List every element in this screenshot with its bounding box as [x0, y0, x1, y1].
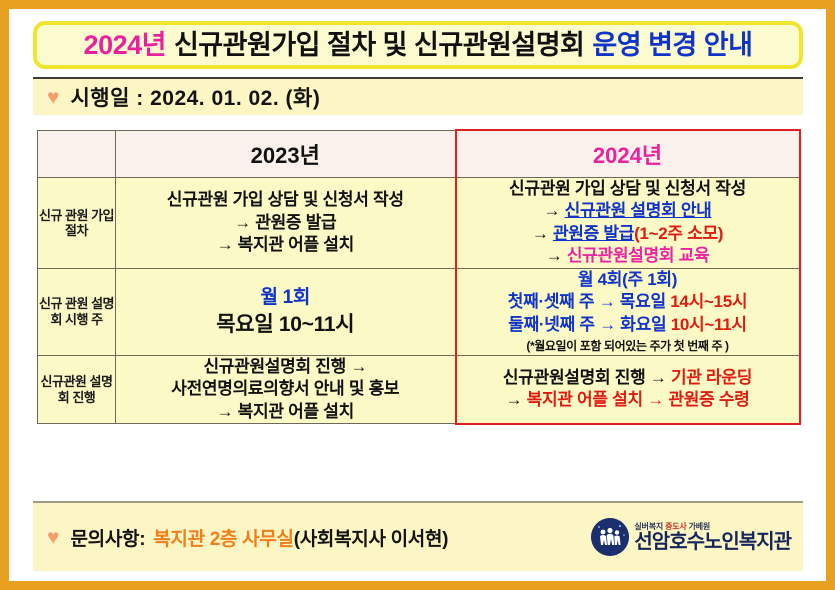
- notice-page: 2024년신규관원가입 절차 및 신규관원설명회운영 변경 안내 ♥ 시행일 :…: [0, 0, 835, 590]
- table-header-row: 2023년 2024년: [38, 130, 800, 178]
- table-head: 2023년 2024년: [38, 130, 800, 178]
- row-label-session-flow: 신규관원 설명회 진행: [38, 355, 116, 423]
- cell-2023-session-week: 월 1회 목요일 10~11시: [116, 268, 456, 355]
- session-week-note: (*월요일이 포함 되어있는 주가 첫 번째 주 ): [457, 339, 799, 355]
- cell-2024-signup-procedure: 신규관원 가입 상담 및 신청서 작성 → 신규관원 설명회 안내 → 관원증 …: [456, 178, 800, 269]
- effective-date-label: 시행일 : 2024. 01. 02. (화): [70, 82, 320, 112]
- logo-name: 선암호수노인복지관: [634, 532, 791, 552]
- organization-logo: 실버복지 중도사 가베원 선암호수노인복지관: [591, 518, 791, 556]
- title-year: 2024년: [84, 30, 166, 60]
- row-label-session-week: 신규 관원 설명회 시행 주: [38, 268, 116, 355]
- contact-info: ♥ 문의사항: 복지관 2층 사무실 (사회복지사 이서현): [47, 524, 448, 551]
- title-middle: 신규관원가입 절차 및 신규관원설명회: [174, 30, 584, 60]
- page-title: 2024년신규관원가입 절차 및 신규관원설명회운영 변경 안내: [84, 32, 753, 59]
- heart-icon: ♥: [47, 527, 59, 548]
- emblem-icon: [591, 518, 629, 556]
- row-label-signup-procedure: 신규 관원 가입 절차: [38, 178, 116, 269]
- contact-place: 복지관 2층 사무실: [153, 524, 294, 551]
- cell-2024-session-flow: 신규관원설명회 진행 → 기관 라운딩 → 복지관 어플 설치 → 관원증 수령: [456, 355, 800, 423]
- table-body: 신규 관원 가입 절차 신규관원 가입 상담 및 신청서 작성 → 관원증 발급…: [38, 178, 800, 424]
- effective-date-band: ♥ 시행일 : 2024. 01. 02. (화): [33, 77, 803, 115]
- page-inner: 2024년신규관원가입 절차 및 신규관원설명회운영 변경 안내 ♥ 시행일 :…: [9, 9, 826, 581]
- cell-2023-signup-procedure: 신규관원 가입 상담 및 신청서 작성 → 관원증 발급 → 복지관 어플 설치: [116, 178, 456, 269]
- contact-label: 문의사항:: [70, 524, 145, 551]
- header-label-cell: [38, 130, 116, 178]
- heart-icon: ♥: [47, 87, 59, 108]
- cell-2023-session-flow: 신규관원설명회 진행 → 사전연명의료의향서 안내 및 홍보 → 복지관 어플 …: [116, 355, 456, 423]
- title-tail: 운영 변경 안내: [592, 30, 752, 60]
- contact-person: (사회복지사 이서현): [294, 524, 448, 551]
- logo-text: 실버복지 중도사 가베원 선암호수노인복지관: [634, 523, 791, 552]
- header-2023: 2023년: [116, 130, 456, 178]
- comparison-table: 2023년 2024년 신규 관원 가입 절차 신규관원 가입 상담 및 신청서…: [37, 129, 801, 425]
- header-2024: 2024년: [456, 130, 800, 178]
- cell-2024-session-week: 월 4회(주 1회) 첫째·셋째 주 → 목요일 14시~15시 둘째·넷째 주…: [456, 268, 800, 355]
- table-row: 신규관원 설명회 진행 신규관원설명회 진행 → 사전연명의료의향서 안내 및 …: [38, 355, 800, 423]
- footer-band: ♥ 문의사항: 복지관 2층 사무실 (사회복지사 이서현): [33, 501, 803, 571]
- table-row: 신규 관원 설명회 시행 주 월 1회 목요일 10~11시 월 4회(주 1회…: [38, 268, 800, 355]
- table-row: 신규 관원 가입 절차 신규관원 가입 상담 및 신청서 작성 → 관원증 발급…: [38, 178, 800, 269]
- logo-tagline: 실버복지 중도사 가베원: [634, 523, 791, 531]
- title-banner: 2024년신규관원가입 절차 및 신규관원설명회운영 변경 안내: [33, 21, 803, 69]
